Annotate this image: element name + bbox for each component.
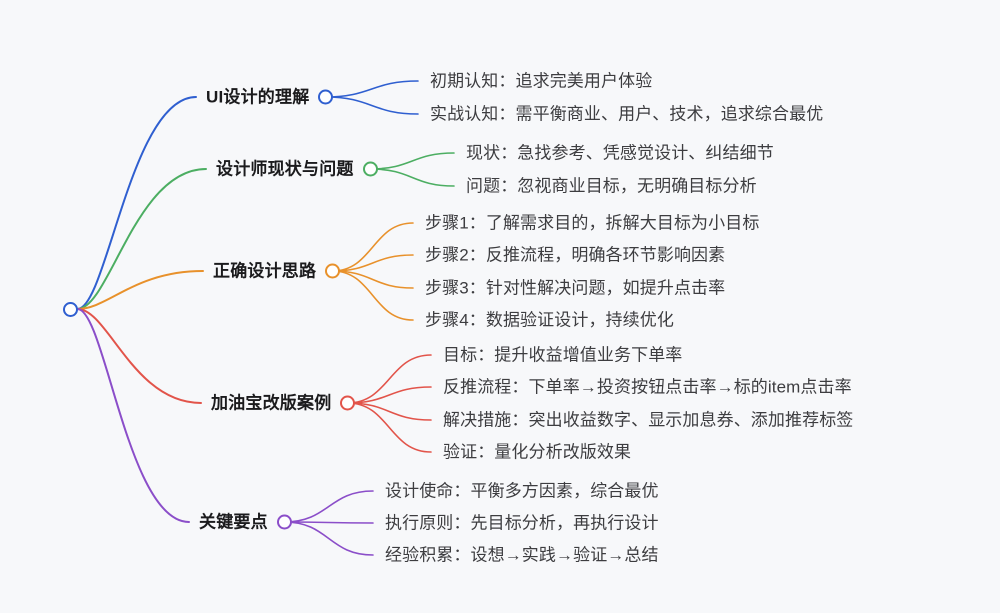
mindmap-edge bbox=[333, 271, 414, 320]
branch-node-2[interactable]: 设计师现状与问题 bbox=[216, 161, 378, 178]
branch-label: UI设计的理解 bbox=[206, 89, 309, 106]
mindmap-edge bbox=[285, 522, 374, 555]
leaf-node-3-3[interactable]: 步骤3：针对性解决问题，如提升点击率 bbox=[425, 280, 725, 297]
root-node-dot[interactable] bbox=[63, 302, 78, 317]
leaf-node-3-4[interactable]: 步骤4：数据验证设计，持续优化 bbox=[425, 312, 674, 329]
mindmap-edge bbox=[333, 255, 414, 271]
leaf-node-5-2[interactable]: 执行原则：先目标分析，再执行设计 bbox=[385, 515, 659, 532]
mindmap-edge bbox=[78, 309, 202, 403]
branch-label: 正确设计思路 bbox=[213, 263, 316, 280]
leaf-node-2-2[interactable]: 问题：忽视商业目标，无明确目标分析 bbox=[466, 178, 757, 195]
branch-label: 设计师现状与问题 bbox=[216, 161, 354, 178]
mindmap-edge bbox=[348, 403, 432, 452]
mindmap-edge bbox=[78, 169, 207, 309]
branch-node-dot[interactable] bbox=[318, 90, 333, 105]
branch-node-4[interactable]: 加油宝改版案例 bbox=[211, 395, 355, 412]
mindmap-edge bbox=[285, 522, 374, 523]
leaf-node-3-2[interactable]: 步骤2：反推流程，明确各环节影响因素 bbox=[425, 247, 725, 264]
leaf-node-4-1[interactable]: 目标：提升收益增值业务下单率 bbox=[443, 347, 682, 364]
mindmap-edge bbox=[348, 355, 432, 403]
mindmap-edge bbox=[371, 153, 455, 169]
branch-node-1[interactable]: UI设计的理解 bbox=[206, 89, 333, 106]
mindmap-edge bbox=[348, 387, 432, 403]
leaf-node-5-1[interactable]: 设计使命：平衡多方因素，综合最优 bbox=[385, 483, 659, 500]
leaf-node-3-1[interactable]: 步骤1：了解需求目的，拆解大目标为小目标 bbox=[425, 215, 759, 232]
leaf-node-4-2[interactable]: 反推流程：下单率→投资按钮点击率→标的item点击率 bbox=[443, 379, 852, 396]
mindmap-edge bbox=[333, 271, 414, 288]
leaf-node-4-4[interactable]: 验证：量化分析改版效果 bbox=[443, 444, 631, 461]
mindmap-edge bbox=[78, 271, 204, 309]
branch-node-5[interactable]: 关键要点 bbox=[199, 514, 292, 531]
leaf-node-1-1[interactable]: 初期认知：追求完美用户体验 bbox=[430, 73, 652, 90]
branch-node-dot[interactable] bbox=[325, 264, 340, 279]
mindmap-edge bbox=[78, 97, 197, 309]
mindmap-edge bbox=[326, 81, 419, 97]
branch-node-dot[interactable] bbox=[340, 396, 355, 411]
mindmap-edge bbox=[333, 223, 414, 271]
leaf-node-1-2[interactable]: 实战认知：需平衡商业、用户、技术，追求综合最优 bbox=[430, 106, 823, 123]
branch-label: 加油宝改版案例 bbox=[211, 395, 331, 412]
mindmap-canvas: UI设计的理解初期认知：追求完美用户体验实战认知：需平衡商业、用户、技术，追求综… bbox=[0, 0, 1000, 613]
mindmap-edge bbox=[326, 97, 419, 114]
branch-node-dot[interactable] bbox=[277, 515, 292, 530]
leaf-node-2-1[interactable]: 现状：急找参考、凭感觉设计、纠结细节 bbox=[466, 145, 774, 162]
mindmap-edge bbox=[78, 309, 190, 522]
mindmap-edge bbox=[371, 169, 455, 186]
leaf-node-4-3[interactable]: 解决措施：突出收益数字、显示加息券、添加推荐标签 bbox=[443, 412, 853, 429]
branch-label: 关键要点 bbox=[199, 514, 268, 531]
branch-node-dot[interactable] bbox=[363, 162, 378, 177]
branch-node-3[interactable]: 正确设计思路 bbox=[213, 263, 340, 280]
mindmap-edge bbox=[285, 491, 374, 522]
leaf-node-5-3[interactable]: 经验积累：设想→实践→验证→总结 bbox=[385, 547, 659, 564]
mindmap-edge bbox=[348, 403, 432, 420]
